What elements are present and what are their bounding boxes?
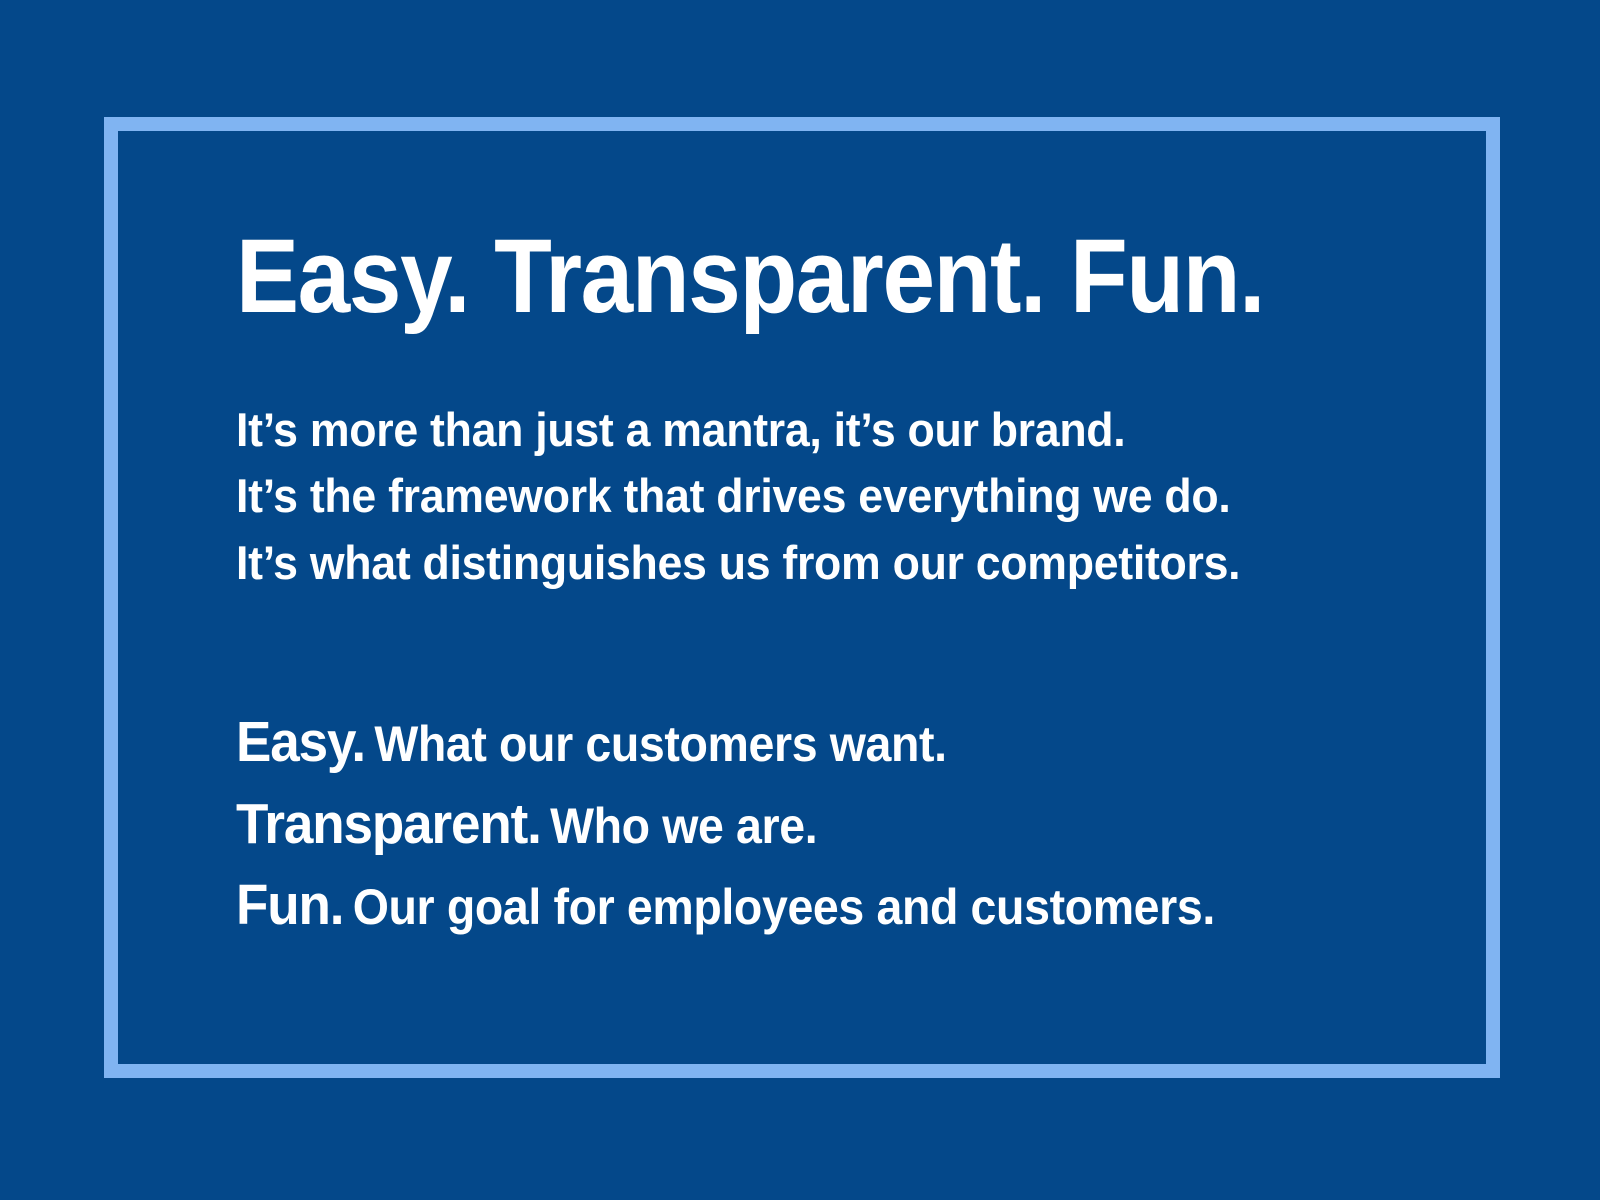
slide-canvas: Easy. Transparent. Fun. It’s more than j… — [0, 0, 1600, 1200]
slide-content: Easy. Transparent. Fun. It’s more than j… — [236, 222, 1416, 949]
definition-description-fun: Our goal for employees and customers. — [353, 879, 1215, 935]
intro-paragraph: It’s more than just a mantra, it’s our b… — [236, 397, 1416, 596]
intro-line-1: It’s more than just a mantra, it’s our b… — [236, 397, 1357, 463]
definition-list: Easy.What our customers want. Transparen… — [236, 704, 1416, 945]
definition-item-transparent: Transparent.Who we are. — [236, 786, 1333, 864]
definition-item-easy: Easy.What our customers want. — [236, 704, 1333, 782]
definition-term-transparent: Transparent. — [236, 792, 541, 856]
definition-description-transparent: Who we are. — [550, 798, 817, 854]
definition-term-easy: Easy. — [236, 710, 365, 774]
intro-line-3: It’s what distinguishes us from our comp… — [236, 530, 1357, 596]
definition-item-fun: Fun.Our goal for employees and customers… — [236, 867, 1333, 945]
definition-description-easy: What our customers want. — [374, 716, 946, 772]
page-title: Easy. Transparent. Fun. — [236, 222, 1298, 331]
intro-line-2: It’s the framework that drives everythin… — [236, 463, 1357, 529]
definition-term-fun: Fun. — [236, 873, 343, 937]
